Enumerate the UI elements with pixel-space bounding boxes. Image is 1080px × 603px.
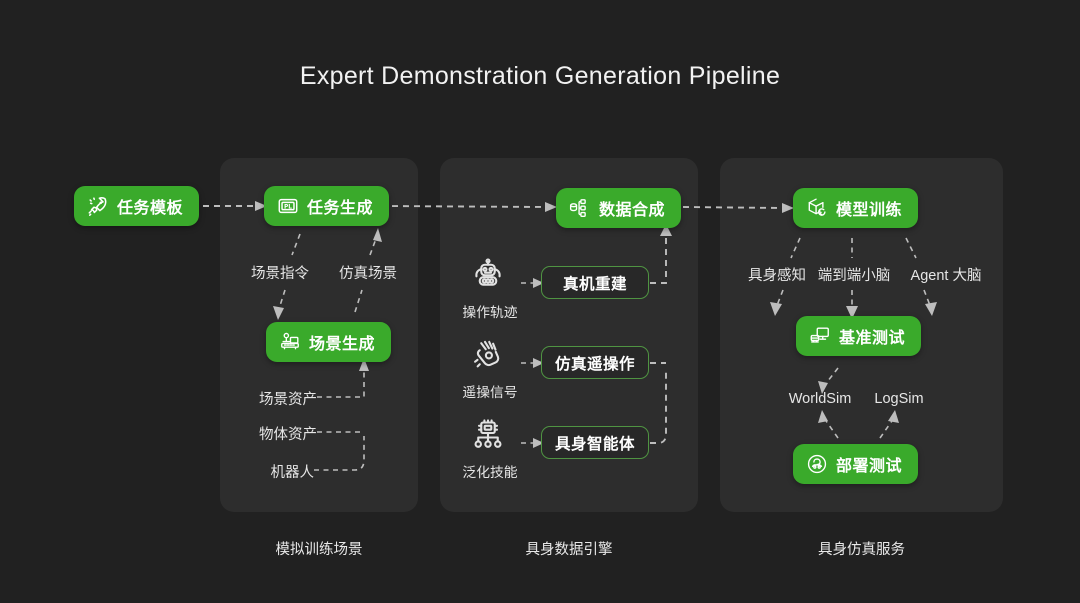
sim-label-worldsim: WorldSim (778, 391, 862, 407)
asset-label-robot: 机器人 (233, 461, 314, 482)
page-title: Expert Demonstration Generation Pipeline (0, 62, 1080, 91)
panel-caption-embodied-data-engine: 具身数据引擎 (440, 538, 698, 559)
panel-caption-embodied-simulation-service: 具身仿真服务 (720, 538, 1003, 559)
asset-label-object-assets: 物体资产 (233, 423, 317, 444)
cube-refresh-icon (806, 197, 828, 219)
node-label: 模型训练 (836, 196, 902, 220)
edge-label-simulation-scene: 仿真场景 (326, 262, 410, 283)
node-deployment-test[interactable]: 部署测试 (793, 444, 918, 484)
node-model-training[interactable]: 模型训练 (793, 188, 918, 228)
box-real-machine-reconstruction[interactable]: 真机重建 (541, 266, 649, 299)
node-data-synthesis[interactable]: 数据合成 (556, 188, 681, 228)
robot-icon (470, 258, 506, 294)
circular-deploy-icon (806, 453, 828, 475)
node-label: 任务模板 (117, 194, 183, 218)
svg-text:PL: PL (284, 204, 292, 210)
node-label: 数据合成 (599, 196, 665, 220)
asset-label-scene-assets: 场景资产 (233, 388, 317, 409)
capability-label-end-to-end-cerebellum: 端到端小脑 (812, 264, 896, 285)
box-embodied-agent[interactable]: 具身智能体 (541, 426, 649, 459)
box-simulated-teleoperation[interactable]: 仿真遥操作 (541, 346, 649, 379)
data-flow-icon (569, 197, 591, 219)
node-scene-generation[interactable]: 场景生成 (266, 322, 391, 362)
pl-frame-icon: PL (277, 195, 299, 217)
node-label: 基准测试 (839, 324, 905, 348)
monitor-benchmark-icon (809, 325, 831, 347)
diagram-canvas: Expert Demonstration Generation Pipeline (0, 0, 1080, 603)
rocket-icon (87, 195, 109, 217)
capability-label-agent-brain: Agent 大脑 (898, 264, 994, 285)
source-label-operation-trajectory: 操作轨迹 (455, 301, 525, 321)
source-label-teleoperation-signal: 遥操信号 (455, 381, 525, 401)
panel-caption-simulation-training-scene: 模拟训练场景 (220, 538, 418, 559)
glove-icon (470, 338, 506, 374)
capability-label-embodied-perception: 具身感知 (735, 264, 819, 285)
node-task-template[interactable]: 任务模板 (74, 186, 199, 226)
source-label-generalization-skill: 泛化技能 (455, 461, 525, 481)
edge-label-scene-instruction: 场景指令 (238, 262, 322, 283)
chip-network-icon (470, 418, 506, 454)
node-benchmark-test[interactable]: 基准测试 (796, 316, 921, 356)
node-label: 部署测试 (836, 452, 902, 476)
node-label: 场景生成 (309, 330, 375, 354)
robot-scene-icon (279, 331, 301, 353)
node-label: 任务生成 (307, 194, 373, 218)
node-task-generation[interactable]: PL 任务生成 (264, 186, 389, 226)
sim-label-logsim: LogSim (868, 391, 930, 407)
